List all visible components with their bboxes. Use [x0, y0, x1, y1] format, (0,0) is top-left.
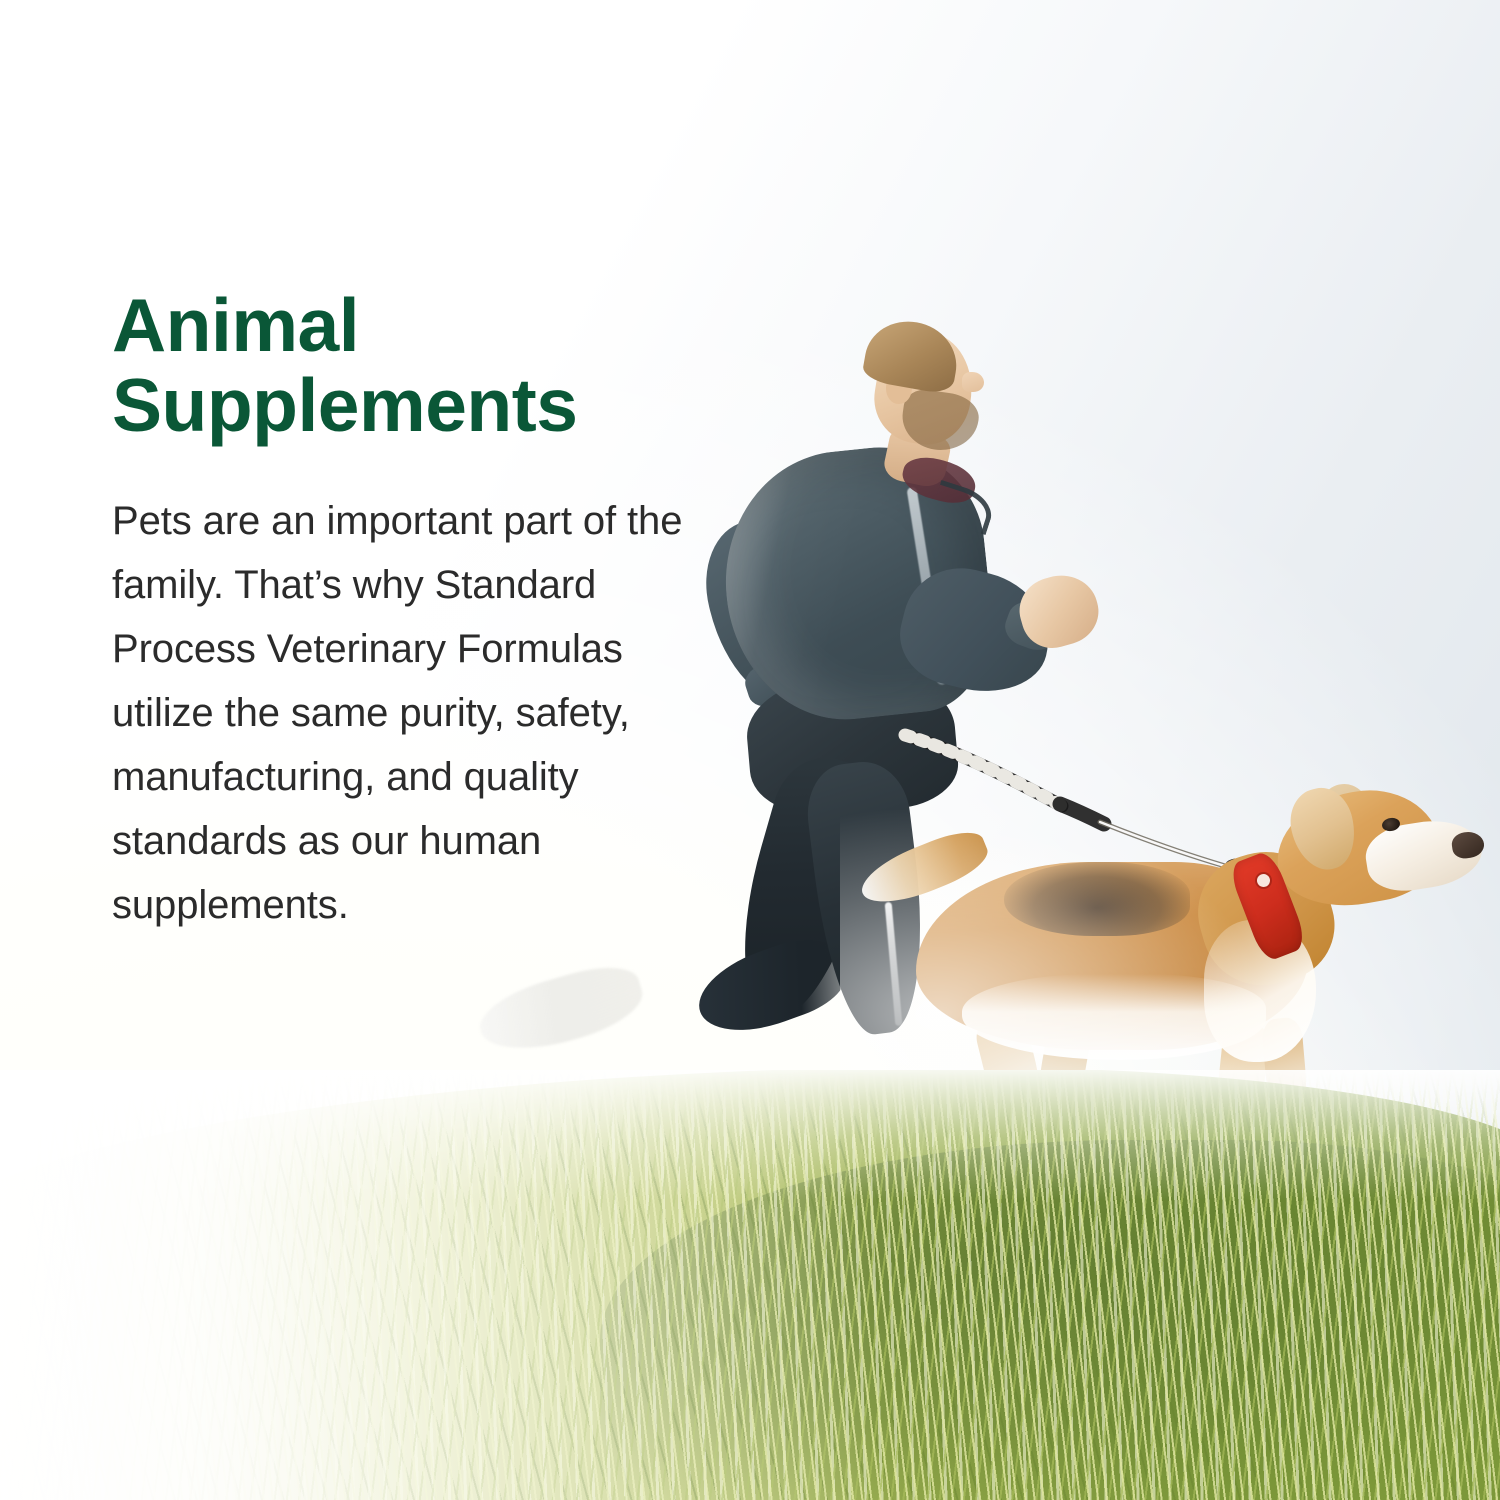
dog-back-saddle-marking: [1004, 862, 1190, 936]
grass-field: [0, 1070, 1500, 1500]
grass-blades-texture: [0, 1070, 1500, 1500]
copy-block: Animal Supplements Pets are an important…: [112, 286, 712, 937]
promo-panel: Animal Supplements Pets are an important…: [0, 0, 1500, 1500]
body-paragraph: Pets are an important part of the family…: [112, 489, 712, 937]
headline-line-2: Supplements: [112, 366, 712, 446]
headline-line-1: Animal: [112, 286, 712, 366]
page-title: Animal Supplements: [112, 286, 712, 445]
runner-nose: [962, 372, 984, 392]
